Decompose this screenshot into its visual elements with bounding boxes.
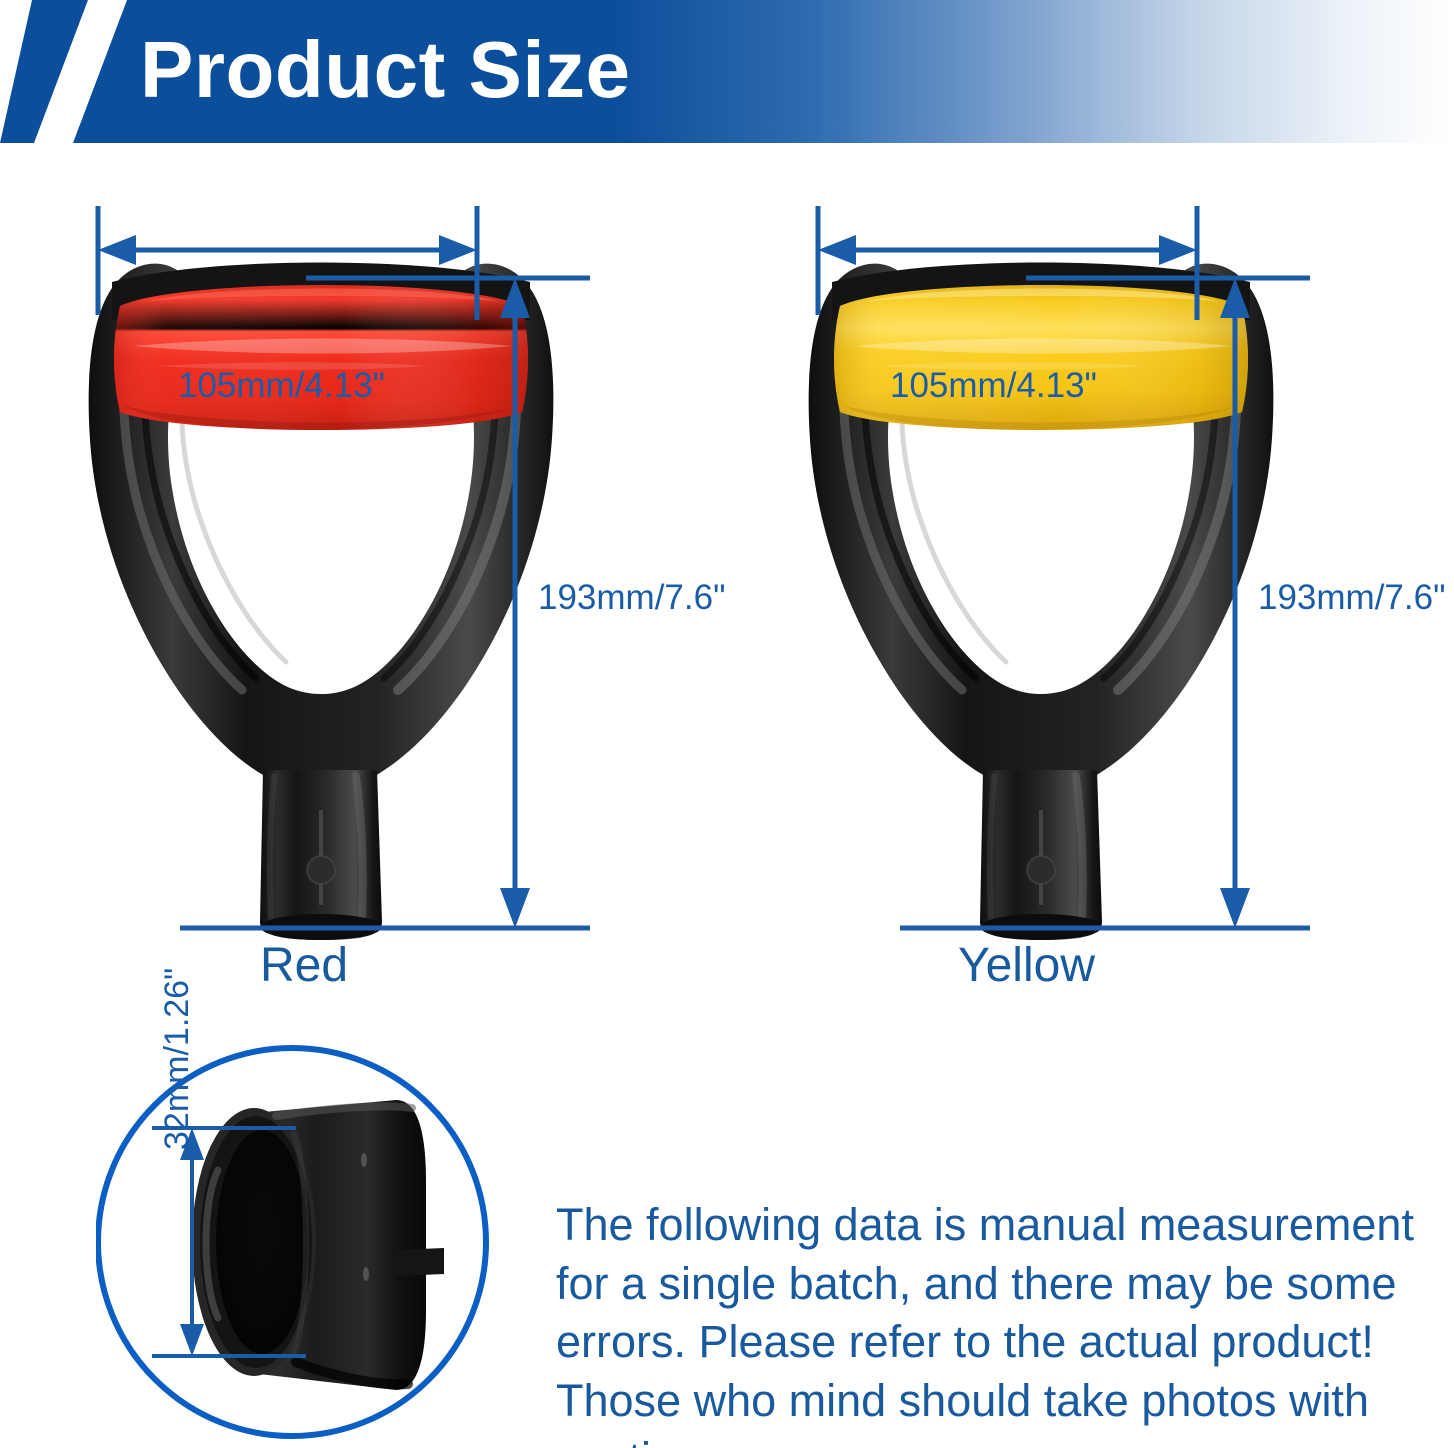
grip-sleeve-yellow bbox=[834, 285, 1248, 430]
height-dimension-label-yellow: 193mm/7.6" bbox=[1258, 578, 1446, 618]
color-label-red: Red bbox=[260, 938, 348, 993]
height-dimension-label-red: 193mm/7.6" bbox=[538, 578, 726, 618]
height-arrow-bottom bbox=[1220, 888, 1250, 928]
handle-socket-yellow bbox=[980, 770, 1102, 940]
width-arrow-left bbox=[98, 235, 136, 265]
width-dimension-label-yellow: 105mm/4.13" bbox=[890, 366, 1097, 406]
product-figure-yellow: 105mm/4.13" 193mm/7.6" Yellow bbox=[780, 170, 1400, 1010]
header-banner: Product Size bbox=[0, 0, 1454, 143]
product-figure-red: 105mm/4.13" 193mm/7.6" Red bbox=[60, 170, 680, 1010]
page-title: Product Size bbox=[140, 14, 1040, 126]
width-arrow-left bbox=[818, 235, 856, 265]
socket-detail-inset: 32mm/1.26" bbox=[96, 1042, 496, 1442]
handle-socket-red bbox=[260, 770, 382, 940]
disclaimer-text: The following data is manual measurement… bbox=[556, 1196, 1454, 1448]
height-arrow-bottom bbox=[500, 888, 530, 928]
socket-dimension-label: 32mm/1.26" bbox=[158, 968, 197, 1150]
color-label-yellow: Yellow bbox=[958, 938, 1095, 993]
product-size-infographic: Product Size bbox=[0, 0, 1454, 1448]
grip-sleeve-red bbox=[114, 285, 528, 430]
width-arrow-right bbox=[439, 235, 477, 265]
width-dimension-label-red: 105mm/4.13" bbox=[178, 366, 385, 406]
width-arrow-right bbox=[1159, 235, 1197, 265]
